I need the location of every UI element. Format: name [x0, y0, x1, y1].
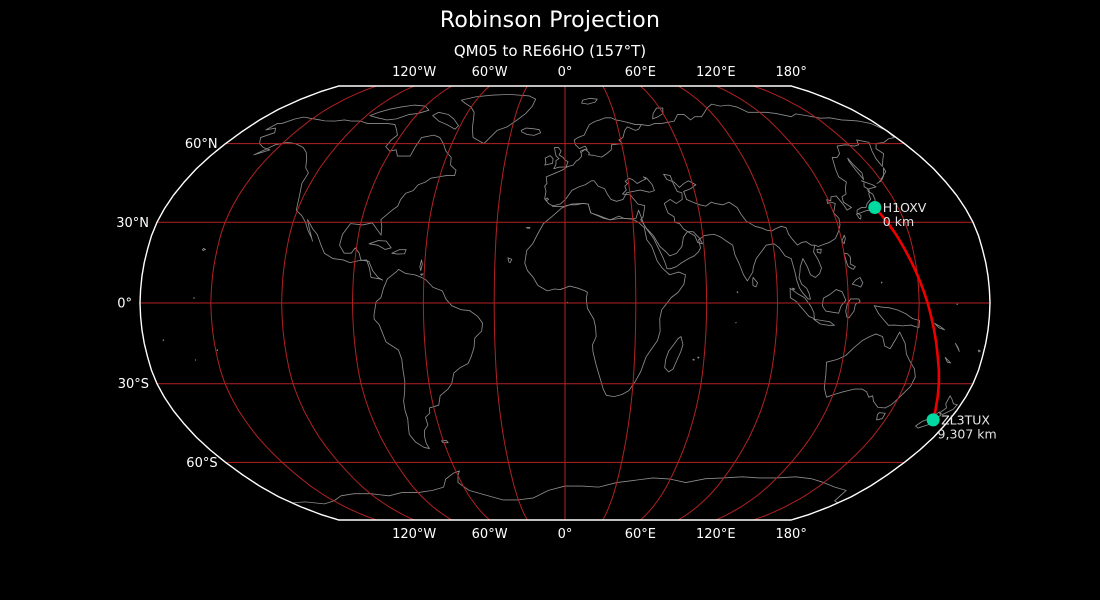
lon-tick-top-5: 60°W: [472, 65, 508, 80]
map-coastlines: [163, 94, 981, 504]
lon-tick-top-2: 120°E: [696, 65, 736, 80]
great-circle-path: [875, 207, 939, 419]
map-figure: Robinson Projection QM05 to RE66HO (157°…: [0, 0, 1100, 600]
lon-tick-bottom-1: 60°E: [625, 527, 656, 542]
station-label-h1oxv: H1OXV: [883, 200, 927, 215]
robinson-map-canvas: H1OXV0 kmZL3TUX9,307 km 0°0°60°E60°E120°…: [0, 0, 1100, 600]
station-distance-zl3tux: 9,307 km: [938, 426, 997, 441]
station-marker-zl3tux[interactable]: [927, 413, 940, 426]
lon-tick-top-1: 60°E: [625, 65, 656, 80]
lon-tick-bottom-5: 60°W: [472, 527, 508, 542]
lat-tick-1: 30°N: [116, 216, 149, 231]
lon-tick-bottom-4: 120°W: [392, 527, 436, 542]
station-marker-h1oxv[interactable]: [868, 201, 881, 214]
lon-tick-top-4: 120°W: [392, 65, 436, 80]
station-label-zl3tux: ZL3TUX: [941, 412, 990, 427]
latitude-axis-labels: 60°N30°N0°30°S60°S: [116, 137, 217, 471]
lat-tick-0: 60°N: [185, 137, 218, 152]
lat-tick-4: 60°S: [186, 456, 217, 471]
lon-tick-top-0: 0°: [558, 65, 573, 80]
station-distance-h1oxv: 0 km: [883, 214, 914, 229]
lon-tick-bottom-3: 180°: [776, 527, 807, 542]
lon-tick-top-3: 180°: [776, 65, 807, 80]
lat-tick-3: 30°S: [118, 377, 149, 392]
lon-tick-bottom-2: 120°E: [696, 527, 736, 542]
lat-tick-2: 0°: [117, 297, 132, 312]
map-graticule: [140, 86, 990, 520]
lon-tick-bottom-0: 0°: [558, 527, 573, 542]
